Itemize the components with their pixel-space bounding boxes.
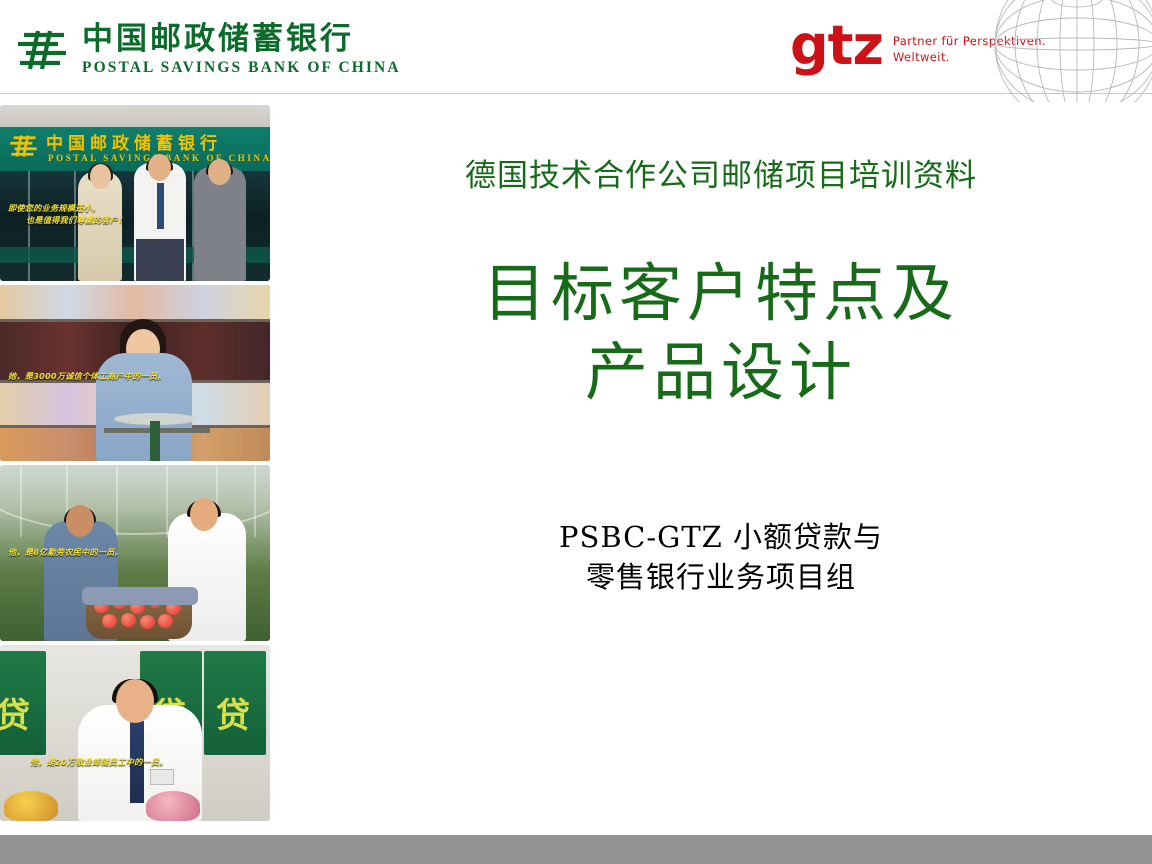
psbc-name-en: POSTAL SAVINGS BANK OF CHINA xyxy=(82,60,401,76)
subject-line: 德国技术合作公司邮储项目培训资料 xyxy=(290,150,1152,195)
photo-farmers: 他，是8亿勤劳农民中的一员。 xyxy=(0,465,270,641)
photo-caption: 他，是20万敬业邮储员工中的一员。 xyxy=(30,757,270,769)
photo-branch-staff: 中国邮政储蓄银行 POSTAL SAVINGS BANK OF CHINA 即使… xyxy=(0,105,270,281)
branch-sign-emblem-icon xyxy=(8,131,40,161)
photo-shopkeeper: 她，是3000万诚信个体工商户中的一员。 xyxy=(0,285,270,461)
wireframe-globe-icon xyxy=(992,0,1152,102)
gtz-wordmark: gtz xyxy=(790,20,883,71)
photo-caption-line1: 即使您的业务规模还小， xyxy=(8,203,258,215)
photo-caption: 他，是8亿勤劳农民中的一员。 xyxy=(8,547,258,559)
branch-sign-cn: 中国邮政储蓄银行 xyxy=(46,129,222,154)
team-credit-line1: PSBC-GTZ 小额贷款与 xyxy=(290,517,1152,558)
team-credit: PSBC-GTZ 小额贷款与 零售银行业务项目组 xyxy=(290,517,1152,598)
slide-header: 中国邮政储蓄银行 POSTAL SAVINGS BANK OF CHINA gt… xyxy=(0,0,1152,94)
page-title-line1: 目标客户特点及 xyxy=(290,255,1152,334)
photo-bank-employee: 贷 贷 贷 他，是20万敬业邮储员工中的一员。 xyxy=(0,645,270,821)
photo-caption-line2: 也是值得我们尊重的客户！ xyxy=(8,215,258,227)
psbc-logo: 中国邮政储蓄银行 POSTAL SAVINGS BANK OF CHINA xyxy=(14,24,401,76)
photo-caption-line1: 他，是20万敬业邮储员工中的一员。 xyxy=(30,757,270,769)
photo-caption-line1: 他，是8亿勤劳农民中的一员。 xyxy=(8,547,258,559)
page-title: 目标客户特点及 产品设计 xyxy=(290,255,1152,413)
photo-caption-line1: 她，是3000万诚信个体工商户中的一员。 xyxy=(8,371,258,383)
psbc-name-cn: 中国邮政储蓄银行 xyxy=(82,24,401,55)
photo-caption: 她，是3000万诚信个体工商户中的一员。 xyxy=(8,371,258,383)
presentation-slide: 中国邮政储蓄银行 POSTAL SAVINGS BANK OF CHINA gt… xyxy=(0,0,1152,864)
team-credit-line2: 零售银行业务项目组 xyxy=(290,557,1152,598)
photo-strip: 中国邮政储蓄银行 POSTAL SAVINGS BANK OF CHINA 即使… xyxy=(0,105,270,825)
page-title-line2: 产品设计 xyxy=(290,334,1152,413)
psbc-wordmark: 中国邮政储蓄银行 POSTAL SAVINGS BANK OF CHINA xyxy=(82,24,401,76)
photo-caption: 即使您的业务规模还小， 也是值得我们尊重的客户！ xyxy=(8,203,258,227)
footer-bar xyxy=(0,835,1152,864)
poster-text: 贷 xyxy=(0,699,30,733)
psbc-emblem-icon xyxy=(14,25,72,75)
slide-content: 德国技术合作公司邮储项目培训资料 目标客户特点及 产品设计 PSBC-GTZ 小… xyxy=(290,110,1152,598)
